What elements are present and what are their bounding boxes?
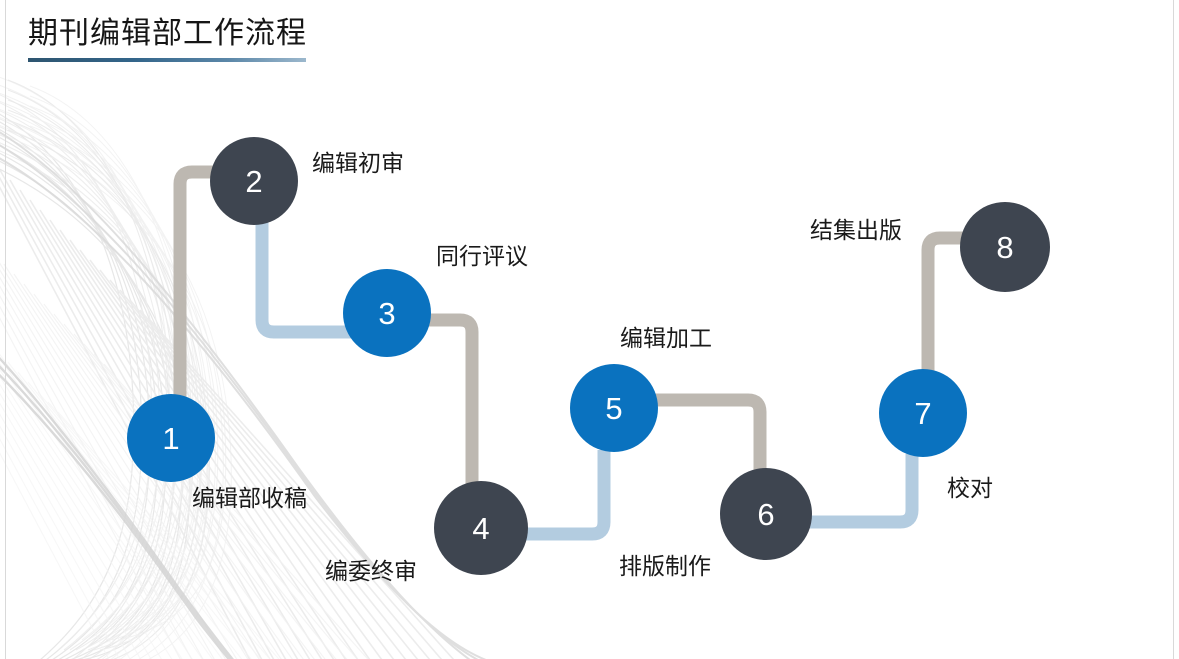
flow-label-3: 同行评议 <box>436 244 528 269</box>
flow-node-5[interactable]: 5 <box>570 364 658 452</box>
flow-node-2[interactable]: 2 <box>210 137 298 225</box>
slide-canvas: 期刊编辑部工作流程 1 编辑部收稿 2 编辑初审 3 同行评 <box>0 0 1179 659</box>
flow-node-3[interactable]: 3 <box>343 269 431 357</box>
flow-node-4[interactable]: 4 <box>434 481 528 575</box>
flow-node-8[interactable]: 8 <box>960 202 1050 292</box>
flow-node-8-number: 8 <box>996 232 1013 263</box>
flow-node-7[interactable]: 7 <box>879 369 967 457</box>
flow-node-6-number: 6 <box>757 499 774 530</box>
flow-node-1-number: 1 <box>162 423 179 454</box>
flow-node-7-number: 7 <box>914 398 931 429</box>
flow-node-4-number: 4 <box>472 513 489 544</box>
workflow-diagram: 1 编辑部收稿 2 编辑初审 3 同行评议 4 编委终审 5 编辑加工 6 排版… <box>0 0 1179 659</box>
flow-label-1: 编辑部收稿 <box>192 486 307 511</box>
flow-node-1[interactable]: 1 <box>127 394 215 482</box>
flow-label-2: 编辑初审 <box>312 151 404 176</box>
flow-node-6[interactable]: 6 <box>720 468 812 560</box>
flow-node-3-number: 3 <box>378 298 395 329</box>
flow-node-5-number: 5 <box>605 393 622 424</box>
flow-label-6: 排版制作 <box>619 554 711 579</box>
flow-label-4: 编委终审 <box>325 559 417 584</box>
flow-label-8: 结集出版 <box>810 218 902 243</box>
flow-label-5: 编辑加工 <box>620 326 712 351</box>
flow-node-2-number: 2 <box>245 166 262 197</box>
flow-label-7: 校对 <box>947 476 993 501</box>
